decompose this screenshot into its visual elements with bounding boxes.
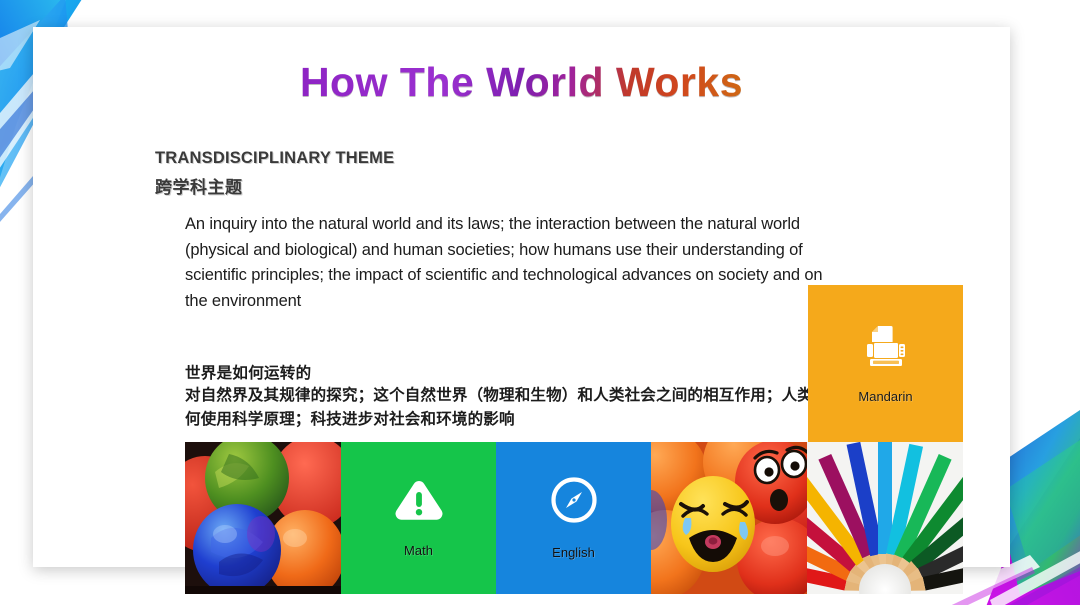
inquiry-paragraph-cn-title: 世界是如何运转的	[185, 361, 311, 383]
page-title: How The World Works	[33, 59, 1010, 106]
tile-english[interactable]: English	[496, 442, 651, 594]
tile-mandarin[interactable]: Mandarin	[808, 285, 963, 442]
inquiry-paragraph-en: An inquiry into the natural world and it…	[185, 212, 825, 314]
tile-mandarin-label: Mandarin	[858, 389, 912, 404]
tile-math[interactable]: Math	[341, 442, 496, 594]
transdisciplinary-theme-heading: TRANSDISCIPLINARY THEME	[155, 149, 394, 168]
inquiry-paragraph-cn-body: 对自然界及其规律的探究；这个自然世界（物理和生物）和人类社会之间的相互作用；人类…	[185, 384, 837, 432]
photo-colored-pencils	[807, 442, 963, 594]
tile-math-label: Math	[404, 543, 433, 558]
photo-emoji-eggs	[651, 442, 807, 594]
warning-triangle-icon	[394, 478, 444, 527]
tile-english-label: English	[552, 545, 595, 560]
compass-icon	[550, 476, 598, 529]
title-block: How The World Works How The World Works	[33, 27, 1010, 117]
photo-painted-eggs	[185, 442, 341, 594]
subject-strip: Math English	[185, 442, 963, 594]
slide-card: How The World Works How The World Works …	[33, 27, 1010, 567]
transdisciplinary-theme-heading-cn: 跨学科主题	[155, 173, 243, 198]
book-printer-icon	[861, 324, 911, 375]
